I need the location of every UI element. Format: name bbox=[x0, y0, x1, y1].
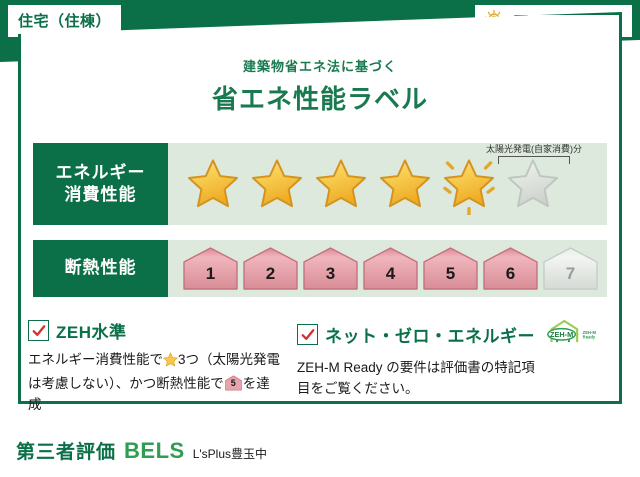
property-name: L'sPlus豊玉中 bbox=[193, 445, 267, 462]
insulation-grade-badge-on: 6 bbox=[482, 246, 539, 291]
insulation-grade-badge-on: 1 bbox=[182, 246, 239, 291]
heading-title: 省エネ性能ラベル bbox=[0, 79, 640, 116]
check-icon bbox=[297, 324, 318, 345]
claim-zehm: ネット・ゼロ・エネルギー ZEH-M ZEH-M Ready ZEH-M Rea… bbox=[297, 318, 612, 416]
insulation-performance-label-key: 断熱性能 bbox=[33, 240, 168, 297]
claims-section: ZEH水準 エネルギー消費性能で3つ（太陽光発電は考慮しない）、かつ断熱性能で5… bbox=[28, 318, 612, 416]
svg-text:ZEH-M: ZEH-M bbox=[550, 330, 573, 339]
page-title: 建築物省エネ法に基づく 省エネ性能ラベル bbox=[0, 56, 640, 116]
claim-zehm-body-text-2: 目をご覧ください。 bbox=[297, 381, 419, 396]
zeh-m-ready-logo: ZEH-M ZEH-M Ready bbox=[546, 318, 612, 351]
insulation-grade-value: 3 bbox=[326, 264, 335, 291]
solar-annotation-bracket bbox=[498, 156, 570, 164]
inline-grade-badge-icon: 5 bbox=[224, 375, 243, 391]
energy-key-line2: 消費性能 bbox=[65, 185, 137, 204]
insulation-grade-value: 6 bbox=[506, 264, 515, 291]
claim-zeh-body-text-1: エネルギー消費性能で bbox=[28, 352, 163, 367]
insulation-grade-value: 7 bbox=[566, 264, 575, 291]
bels-en-label: BELS bbox=[124, 438, 185, 464]
energy-performance-label: 住宅（住棟） 再エネ設備あり bbox=[0, 0, 640, 477]
check-icon bbox=[28, 320, 49, 341]
bels-jp-label: 第三者評価 bbox=[16, 437, 116, 464]
claim-zeh-body: エネルギー消費性能で3つ（太陽光発電は考慮しない）、かつ断熱性能で5を達成 bbox=[28, 350, 283, 416]
insulation-grade-badge-on: 5 bbox=[422, 246, 479, 291]
insulation-grade-value: 2 bbox=[266, 264, 275, 291]
claim-zeh-body-text-2: 3つ（太陽光発電 bbox=[178, 352, 280, 367]
insulation-grade-badge-on: 3 bbox=[302, 246, 359, 291]
insulation-grade-area: 1234567 bbox=[168, 240, 607, 297]
insulation-performance-row: 断熱性能 1234567 bbox=[33, 240, 607, 297]
insulation-grade-badge-on: 2 bbox=[242, 246, 299, 291]
claim-zehm-header: ネット・ゼロ・エネルギー ZEH-M ZEH-M Ready bbox=[297, 318, 612, 351]
claim-zeh-body-text-3: は考慮しない）、かつ断熱性能で bbox=[28, 376, 224, 391]
insulation-grade-value: 1 bbox=[206, 264, 215, 291]
insulation-grade-badge-on: 4 bbox=[362, 246, 419, 291]
energy-performance-label-key: エネルギー 消費性能 bbox=[33, 143, 168, 225]
evaluation-meta: 評価日 2026年2月17日 0f0c7db0-2238-4fb4 bbox=[494, 434, 626, 466]
claim-zehm-body-text-1: ZEH-M Ready の要件は評価書の特記項 bbox=[297, 360, 535, 375]
evaluation-date: 評価日 2026年2月17日 bbox=[494, 434, 626, 453]
claim-zehm-title: ネット・ゼロ・エネルギー bbox=[325, 322, 535, 347]
inline-star-icon bbox=[163, 352, 178, 374]
star-filled-icon bbox=[438, 149, 500, 220]
star-filled-icon bbox=[310, 149, 372, 220]
inline-grade-badge-value: 5 bbox=[224, 377, 243, 391]
star-filled-icon bbox=[246, 149, 308, 220]
svg-text:Ready: Ready bbox=[583, 334, 596, 339]
heading-subtitle: 建築物省エネ法に基づく bbox=[0, 56, 640, 75]
claim-zeh-title: ZEH水準 bbox=[56, 318, 127, 343]
solar-annotation-label: 太陽光発電(自家消費)分 bbox=[474, 142, 594, 155]
claim-zeh: ZEH水準 エネルギー消費性能で3つ（太陽光発電は考慮しない）、かつ断熱性能で5… bbox=[28, 318, 283, 416]
evaluation-uid: 0f0c7db0-2238-4fb4 bbox=[494, 455, 626, 466]
energy-performance-stars-area: 太陽光発電(自家消費)分 bbox=[168, 143, 607, 225]
star-filled-icon bbox=[374, 149, 436, 220]
insulation-grade-value: 4 bbox=[386, 264, 395, 291]
claim-zehm-body: ZEH-M Ready の要件は評価書の特記項目をご覧ください。 bbox=[297, 358, 612, 400]
claim-zeh-header: ZEH水準 bbox=[28, 318, 283, 343]
energy-key-line1: エネルギー bbox=[56, 163, 146, 182]
bels-footer-badge: 第三者評価 BELS L'sPlus豊玉中 bbox=[8, 433, 275, 469]
insulation-grade-value: 5 bbox=[446, 264, 455, 291]
star-filled-icon bbox=[182, 149, 244, 220]
insulation-grade-list: 1234567 bbox=[168, 246, 599, 291]
insulation-grade-badge-off: 7 bbox=[542, 246, 599, 291]
energy-performance-row: エネルギー 消費性能 太陽光発電(自家消費)分 bbox=[33, 143, 607, 225]
